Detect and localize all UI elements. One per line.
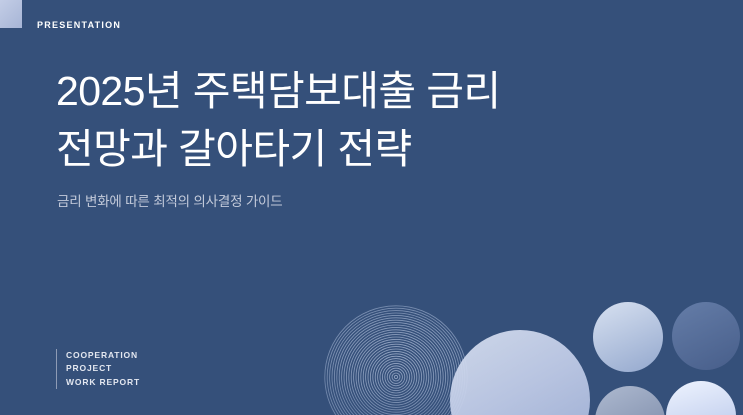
footer-line-1: COOPERATION bbox=[66, 349, 140, 362]
footer-line-3: WORK REPORT bbox=[66, 376, 140, 389]
concentric-ring-circle bbox=[320, 300, 475, 415]
pale-circle-bottom-right bbox=[666, 381, 736, 415]
footer-line-2: PROJECT bbox=[66, 362, 140, 375]
corner-accent-chip bbox=[0, 0, 22, 28]
footer-tag: COOPERATION PROJECT WORK REPORT bbox=[56, 349, 140, 389]
footer-divider bbox=[56, 349, 57, 389]
eyebrow-label: PRESENTATION bbox=[37, 19, 121, 31]
title-slide: PRESENTATION 2025년 주택담보대출 금리 전망과 갈아타기 전략… bbox=[0, 0, 743, 415]
gray-circle-bottom bbox=[595, 386, 665, 415]
small-light-circle-top bbox=[593, 302, 663, 372]
title-line-1: 2025년 주택담보대출 금리 bbox=[56, 62, 656, 120]
large-light-circle bbox=[450, 330, 590, 415]
dark-circle-top-right bbox=[672, 302, 740, 370]
page-title: 2025년 주택담보대출 금리 전망과 갈아타기 전략 bbox=[56, 62, 656, 178]
title-line-2: 전망과 갈아타기 전략 bbox=[56, 120, 656, 178]
footer-text-block: COOPERATION PROJECT WORK REPORT bbox=[66, 349, 140, 389]
page-subtitle: 금리 변화에 따른 최적의 의사결정 가이드 bbox=[57, 192, 283, 212]
